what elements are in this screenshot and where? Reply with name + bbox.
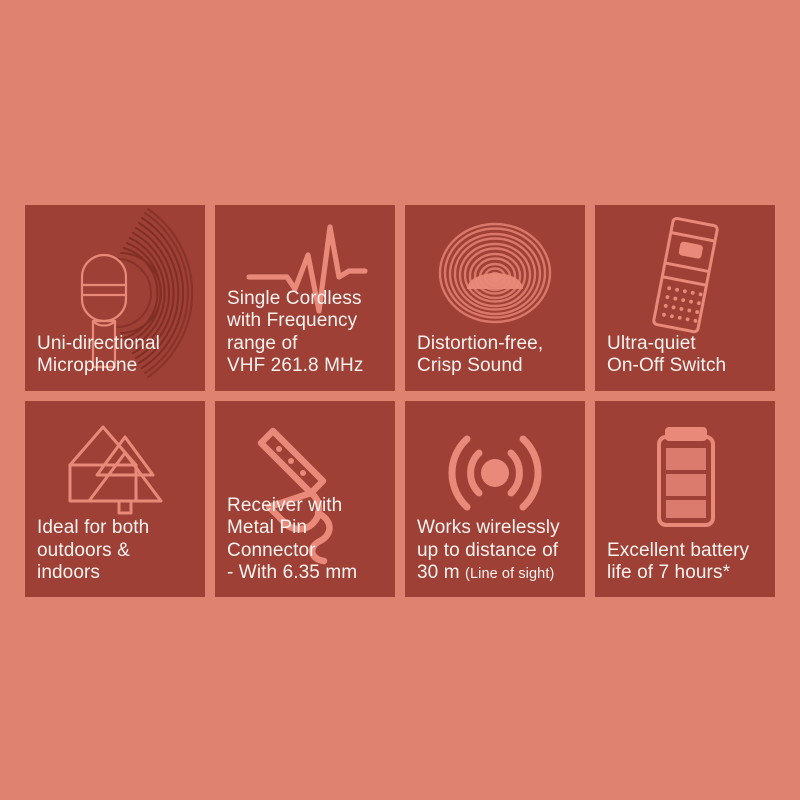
feature-label: Distortion-free, Crisp Sound	[405, 333, 585, 391]
feature-label: Works wirelessly up to distance of 30 m …	[405, 517, 585, 597]
feature-label-note: (Line of sight)	[465, 566, 554, 582]
feature-tile-ideal-indoors-outdoors: Ideal for both outdoors & indoors	[25, 401, 205, 597]
feature-label: Excellent battery life of 7 hours*	[595, 540, 775, 597]
feature-label: Ultra-quiet On-Off Switch	[595, 333, 775, 391]
feature-tile-single-cordless-frequency: Single Cordless with Frequency range of …	[215, 205, 395, 391]
feature-infographic-page: Uni-directional Microphone Single Cordle…	[0, 0, 800, 800]
feature-label: Uni-directional Microphone	[25, 333, 205, 391]
feature-tile-works-wirelessly-30m: Works wirelessly up to distance of 30 m …	[405, 401, 585, 597]
feature-tile-distortion-free-crisp-sound: Distortion-free, Crisp Sound	[405, 205, 585, 391]
feature-tile-uni-directional-microphone: Uni-directional Microphone	[25, 205, 205, 391]
feature-label: Ideal for both outdoors & indoors	[25, 517, 205, 597]
feature-grid: Uni-directional Microphone Single Cordle…	[25, 205, 775, 597]
feature-label: Receiver with Metal Pin Connector - With…	[215, 495, 395, 597]
feature-label: Single Cordless with Frequency range of …	[215, 288, 395, 391]
feature-tile-ultra-quiet-on-off-switch: Ultra-quiet On-Off Switch	[595, 205, 775, 391]
feature-tile-receiver-metal-pin-connector: Receiver with Metal Pin Connector - With…	[215, 401, 395, 597]
feature-tile-excellent-battery-life: Excellent battery life of 7 hours*	[595, 401, 775, 597]
